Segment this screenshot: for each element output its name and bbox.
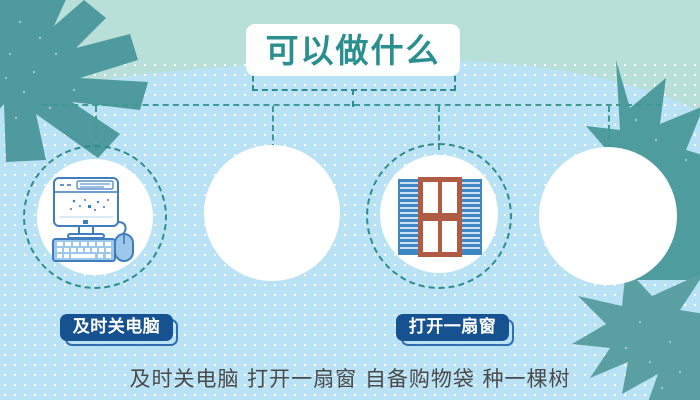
page-title: 可以做什么 — [266, 34, 441, 67]
connector-drop-2 — [272, 106, 274, 150]
badge-body-1[interactable]: 及时关电脑 — [60, 314, 173, 341]
connector-drop-4 — [608, 106, 610, 150]
desktop-computer-icon — [51, 176, 141, 266]
page-title-card: 可以做什么 — [246, 24, 460, 76]
circle-4 — [539, 147, 677, 285]
badge-label-3: 打开一扇窗 — [409, 319, 497, 336]
badge-body-3[interactable]: 打开一扇窗 — [396, 314, 509, 341]
badge-label-1: 及时关电脑 — [73, 319, 161, 336]
footer-caption: 及时关电脑 打开一扇窗 自备购物袋 种一棵树 — [0, 363, 700, 393]
connector-drop-1 — [95, 106, 97, 150]
connector-horizontal-line — [42, 104, 662, 106]
window-shutters-icon — [398, 177, 482, 261]
circle-2 — [204, 145, 340, 281]
infographic-canvas: 可以做什么 — [0, 0, 700, 400]
